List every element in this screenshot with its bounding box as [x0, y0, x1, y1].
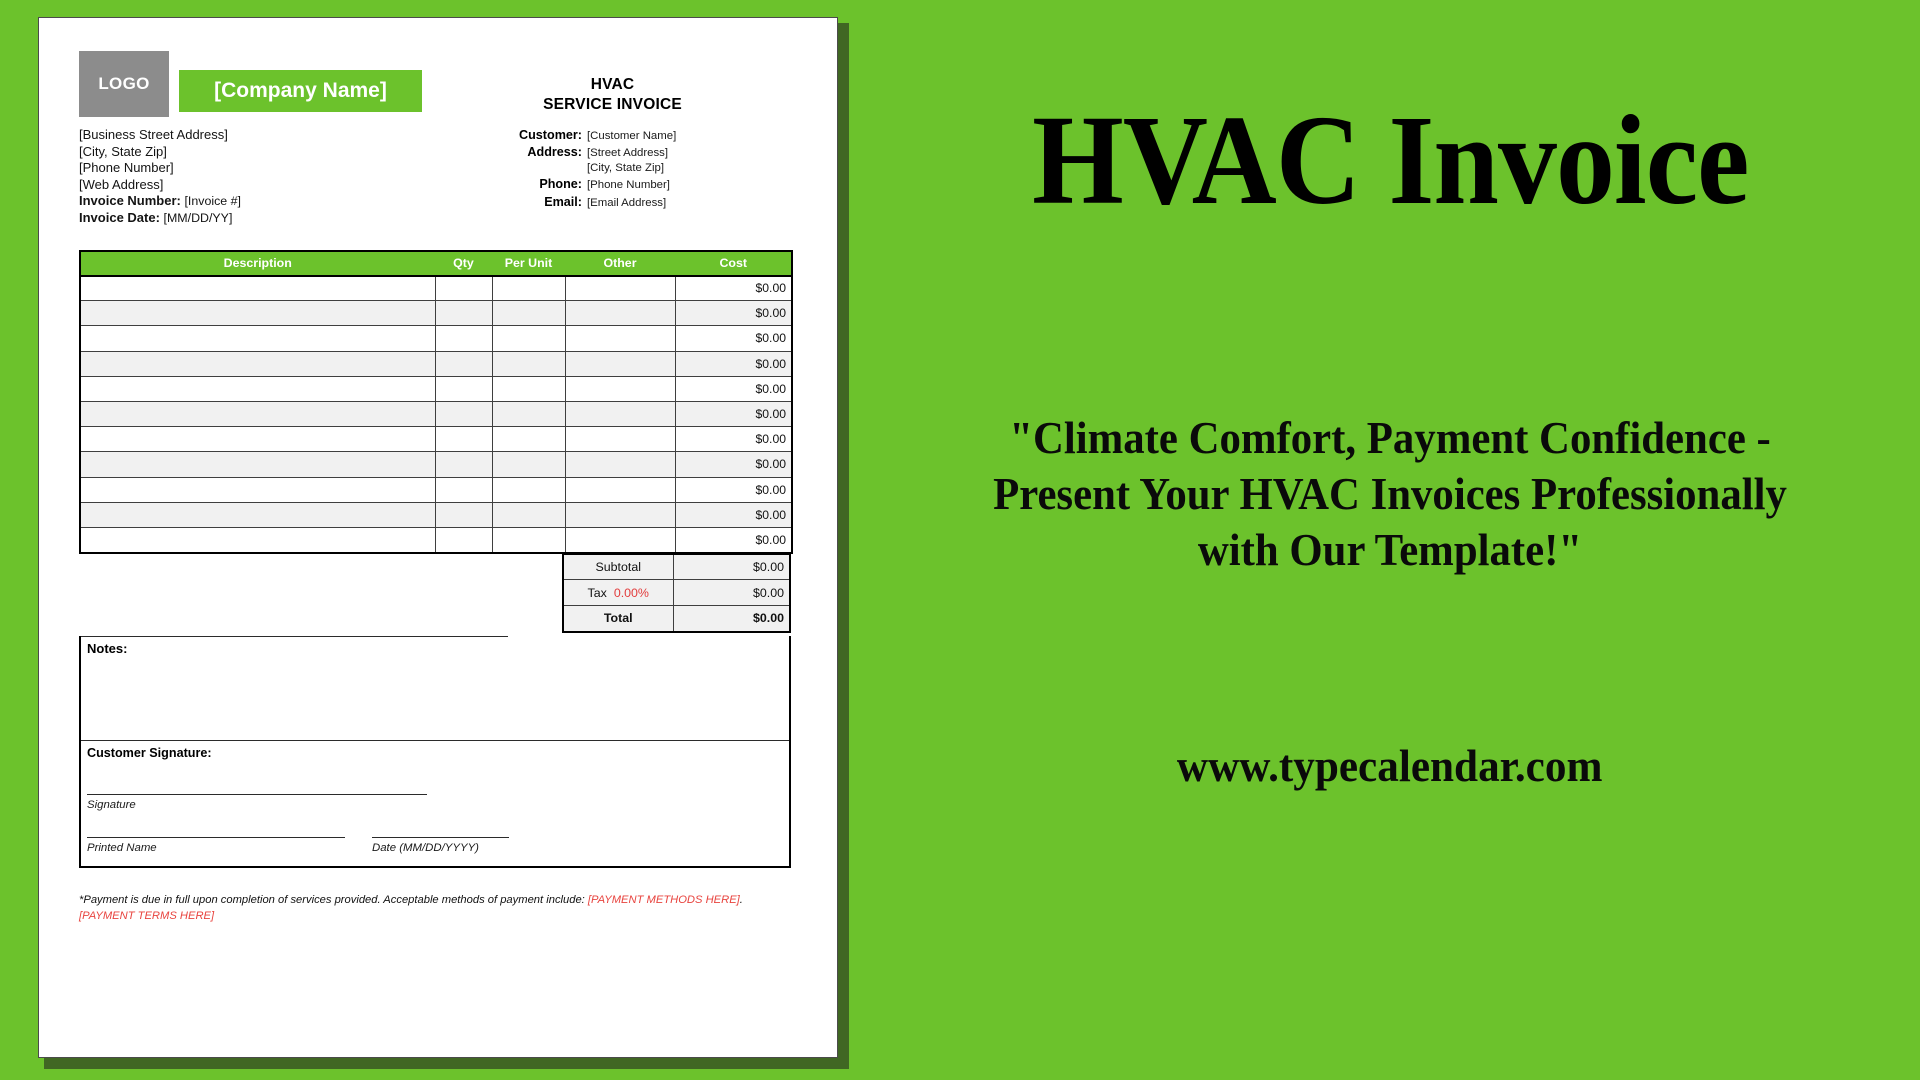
cell-qty[interactable]: [435, 276, 492, 301]
subtotal-row: Subtotal $0.00: [563, 554, 790, 580]
cell-description[interactable]: [80, 351, 435, 376]
customer-signature-heading: Customer Signature:: [81, 741, 789, 760]
signature-field[interactable]: Signature: [81, 760, 789, 811]
payment-terms-footnote: *Payment is due in full upon completion …: [79, 892, 755, 924]
cell-cost[interactable]: $0.00: [675, 351, 792, 376]
table-row[interactable]: $0.00: [80, 477, 792, 502]
cell-description[interactable]: [80, 452, 435, 477]
cell-other[interactable]: [565, 401, 675, 426]
customer-email-label: Email:: [544, 194, 582, 211]
cell-description[interactable]: [80, 527, 435, 552]
cell-other[interactable]: [565, 276, 675, 301]
table-row[interactable]: $0.00: [80, 527, 792, 552]
cell-per-unit[interactable]: [492, 351, 565, 376]
company-name-banner: [Company Name]: [179, 70, 422, 112]
cell-other[interactable]: [565, 452, 675, 477]
notes-label: Notes:: [81, 636, 789, 656]
notes-writing-area[interactable]: [81, 656, 789, 740]
cell-qty[interactable]: [435, 326, 492, 351]
table-row[interactable]: $0.00: [80, 401, 792, 426]
cell-cost[interactable]: $0.00: [675, 427, 792, 452]
invoice-paper: LOGO [Company Name] HVAC SERVICE INVOICE…: [38, 17, 838, 1058]
footnote-payment-methods: [PAYMENT METHODS HERE]: [588, 894, 740, 906]
customer-address-row: Address: [Street Address]: [431, 144, 695, 161]
cell-other[interactable]: [565, 477, 675, 502]
signature-box-padding: [81, 854, 789, 866]
cell-qty[interactable]: [435, 452, 492, 477]
cell-qty[interactable]: [435, 477, 492, 502]
line-items-body: $0.00$0.00$0.00$0.00$0.00$0.00$0.00$0.00…: [80, 276, 792, 553]
business-street: [Business Street Address]: [79, 127, 431, 144]
customer-name-label: Customer:: [519, 127, 582, 144]
cell-description[interactable]: [80, 477, 435, 502]
cell-per-unit[interactable]: [492, 276, 565, 301]
column-header-other: Other: [565, 251, 675, 276]
cell-per-unit[interactable]: [492, 326, 565, 351]
cell-other[interactable]: [565, 427, 675, 452]
cell-description[interactable]: [80, 502, 435, 527]
cell-cost[interactable]: $0.00: [675, 477, 792, 502]
table-row[interactable]: $0.00: [80, 452, 792, 477]
cell-per-unit[interactable]: [492, 527, 565, 552]
tax-value: $0.00: [673, 580, 790, 606]
subtotal-label: Subtotal: [563, 554, 673, 580]
date-caption: Date (MM/DD/YYYY): [372, 838, 509, 854]
customer-phone-row: Phone: [Phone Number]: [431, 176, 695, 193]
cell-per-unit[interactable]: [492, 301, 565, 326]
document-title-line1: HVAC: [434, 75, 791, 95]
notes-top-rule: [81, 636, 508, 637]
cell-cost[interactable]: $0.00: [675, 276, 792, 301]
invoice-number-label: Invoice Number:: [79, 193, 181, 208]
table-row[interactable]: $0.00: [80, 376, 792, 401]
cell-description[interactable]: [80, 401, 435, 426]
cell-per-unit[interactable]: [492, 427, 565, 452]
customer-city-value: [City, State Zip]: [587, 161, 695, 176]
table-row[interactable]: $0.00: [80, 351, 792, 376]
business-phone: [Phone Number]: [79, 160, 431, 177]
printed-name-field[interactable]: Printed Name: [87, 837, 345, 854]
cell-cost[interactable]: $0.00: [675, 527, 792, 552]
logo-placeholder: LOGO: [79, 51, 169, 117]
customer-phone-label: Phone:: [539, 176, 582, 193]
totals-table: Subtotal $0.00 Tax0.00% $0.00 Total $0.0…: [562, 553, 791, 633]
printed-name-caption: Printed Name: [87, 838, 345, 854]
cell-other[interactable]: [565, 351, 675, 376]
document-title-line2: SERVICE INVOICE: [434, 95, 791, 115]
promo-tagline: "Climate Comfort, Payment Confidence - P…: [967, 410, 1813, 578]
table-row[interactable]: $0.00: [80, 427, 792, 452]
cell-per-unit[interactable]: [492, 502, 565, 527]
cell-description[interactable]: [80, 376, 435, 401]
cell-other[interactable]: [565, 326, 675, 351]
footnote-payment-terms: [PAYMENT TERMS HERE]: [79, 910, 214, 922]
subtotal-value: $0.00: [673, 554, 790, 580]
cell-per-unit[interactable]: [492, 401, 565, 426]
table-row[interactable]: $0.00: [80, 326, 792, 351]
cell-cost[interactable]: $0.00: [675, 301, 792, 326]
column-header-per-unit: Per Unit: [492, 251, 565, 276]
total-row: Total $0.00: [563, 606, 790, 632]
table-row[interactable]: $0.00: [80, 301, 792, 326]
customer-address-label: Address:: [527, 144, 582, 161]
promo-panel: HVAC Invoice "Climate Comfort, Payment C…: [860, 0, 1920, 1080]
invoice-date-row: Invoice Date: [MM/DD/YY]: [79, 210, 431, 227]
footnote-separator: .: [740, 894, 743, 906]
customer-name-value: [Customer Name]: [587, 129, 695, 144]
invoice-date-value: [MM/DD/YY]: [164, 211, 233, 225]
tax-rate: 0.00%: [614, 586, 649, 600]
cell-cost[interactable]: $0.00: [675, 376, 792, 401]
line-items-table: Description Qty Per Unit Other Cost $0.0…: [79, 250, 793, 554]
notes-signature-block: Notes: Customer Signature: Signature Pri…: [79, 636, 791, 868]
promo-website-url: www.typecalendar.com: [1177, 740, 1603, 792]
table-row[interactable]: $0.00: [80, 502, 792, 527]
cell-description[interactable]: [80, 301, 435, 326]
cell-qty[interactable]: [435, 401, 492, 426]
invoice-header: LOGO [Company Name] HVAC SERVICE INVOICE: [79, 36, 791, 117]
tax-label: Tax: [588, 586, 607, 600]
total-label: Total: [563, 606, 673, 632]
line-items-header: Description Qty Per Unit Other Cost: [80, 251, 792, 276]
cell-qty[interactable]: [435, 301, 492, 326]
customer-email-value: [Email Address]: [587, 196, 695, 211]
column-header-qty: Qty: [435, 251, 492, 276]
cell-cost[interactable]: $0.00: [675, 452, 792, 477]
cell-per-unit[interactable]: [492, 477, 565, 502]
invoice-number-row: Invoice Number: [Invoice #]: [79, 193, 431, 210]
cell-other[interactable]: [565, 527, 675, 552]
invoice-date-label: Invoice Date:: [79, 210, 160, 225]
document-title: HVAC SERVICE INVOICE: [422, 51, 791, 116]
cell-other[interactable]: [565, 502, 675, 527]
business-city-state-zip: [City, State Zip]: [79, 144, 431, 161]
cell-description[interactable]: [80, 427, 435, 452]
cell-cost[interactable]: $0.00: [675, 326, 792, 351]
cell-qty[interactable]: [435, 351, 492, 376]
customer-info-block: Customer: [Customer Name] Address: [Stre…: [431, 127, 791, 227]
customer-row: Customer: [Customer Name]: [431, 127, 695, 144]
cell-other[interactable]: [565, 376, 675, 401]
cell-qty[interactable]: [435, 376, 492, 401]
column-header-description: Description: [80, 251, 435, 276]
business-info-block: [Business Street Address] [City, State Z…: [79, 127, 431, 227]
footnote-black-text: *Payment is due in full upon completion …: [79, 894, 588, 906]
customer-city-row: [City, State Zip]: [431, 161, 695, 176]
promo-title: HVAC Invoice: [1032, 96, 1748, 224]
tax-label-cell: Tax0.00%: [563, 580, 673, 606]
invoice-sheet: LOGO [Company Name] HVAC SERVICE INVOICE…: [79, 36, 791, 924]
invoice-number-value: [Invoice #]: [184, 194, 240, 208]
customer-phone-value: [Phone Number]: [587, 178, 695, 193]
customer-address-value: [Street Address]: [587, 146, 695, 161]
address-row: [Business Street Address] [City, State Z…: [79, 127, 791, 227]
cell-qty[interactable]: [435, 502, 492, 527]
cell-per-unit[interactable]: [492, 376, 565, 401]
business-web: [Web Address]: [79, 177, 431, 194]
cell-description[interactable]: [80, 276, 435, 301]
customer-email-row: Email: [Email Address]: [431, 194, 695, 211]
table-row[interactable]: $0.00: [80, 276, 792, 301]
invoice-paper-container: LOGO [Company Name] HVAC SERVICE INVOICE…: [38, 17, 843, 1063]
signature-caption: Signature: [87, 795, 789, 811]
tax-row: Tax0.00% $0.00: [563, 580, 790, 606]
cell-description[interactable]: [80, 326, 435, 351]
cell-per-unit[interactable]: [492, 452, 565, 477]
printed-name-date-row: Printed Name Date (MM/DD/YYYY): [81, 811, 789, 854]
total-value: $0.00: [673, 606, 790, 632]
column-header-cost: Cost: [675, 251, 792, 276]
cell-qty[interactable]: [435, 527, 492, 552]
cell-qty[interactable]: [435, 427, 492, 452]
cell-other[interactable]: [565, 301, 675, 326]
cell-cost[interactable]: $0.00: [675, 401, 792, 426]
cell-cost[interactable]: $0.00: [675, 502, 792, 527]
date-field[interactable]: Date (MM/DD/YYYY): [372, 837, 509, 854]
